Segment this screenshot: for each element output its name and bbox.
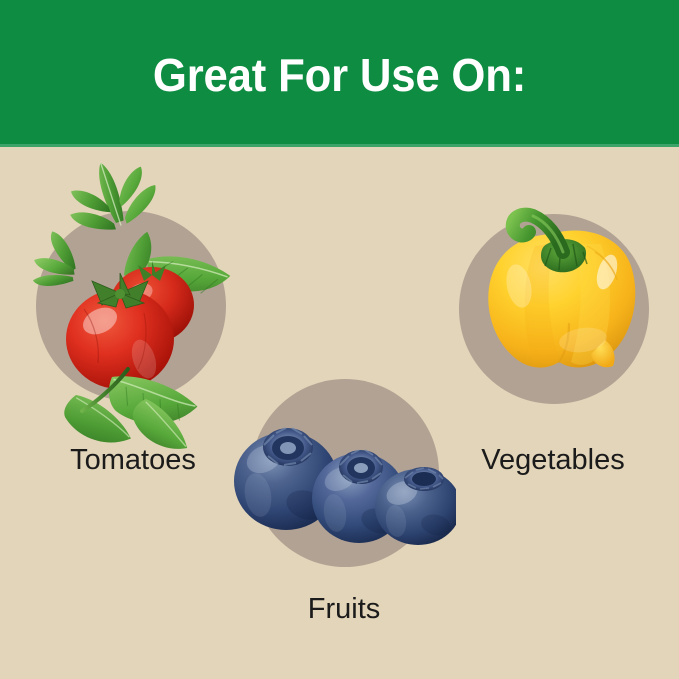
item-label-fruits: Fruits — [211, 592, 477, 626]
item-label-tomatoes: Tomatoes — [0, 443, 266, 477]
product-benefit-poster: Great For Use On: — [0, 0, 679, 679]
tomatoes-disc-background — [36, 211, 226, 401]
header-band-bottom-edge — [0, 144, 679, 147]
vegetables-disc-background — [459, 214, 649, 404]
item-label-vegetables: Vegetables — [418, 443, 679, 477]
fruits-disc-background — [251, 379, 439, 567]
page-title: Great For Use On: — [17, 50, 662, 100]
